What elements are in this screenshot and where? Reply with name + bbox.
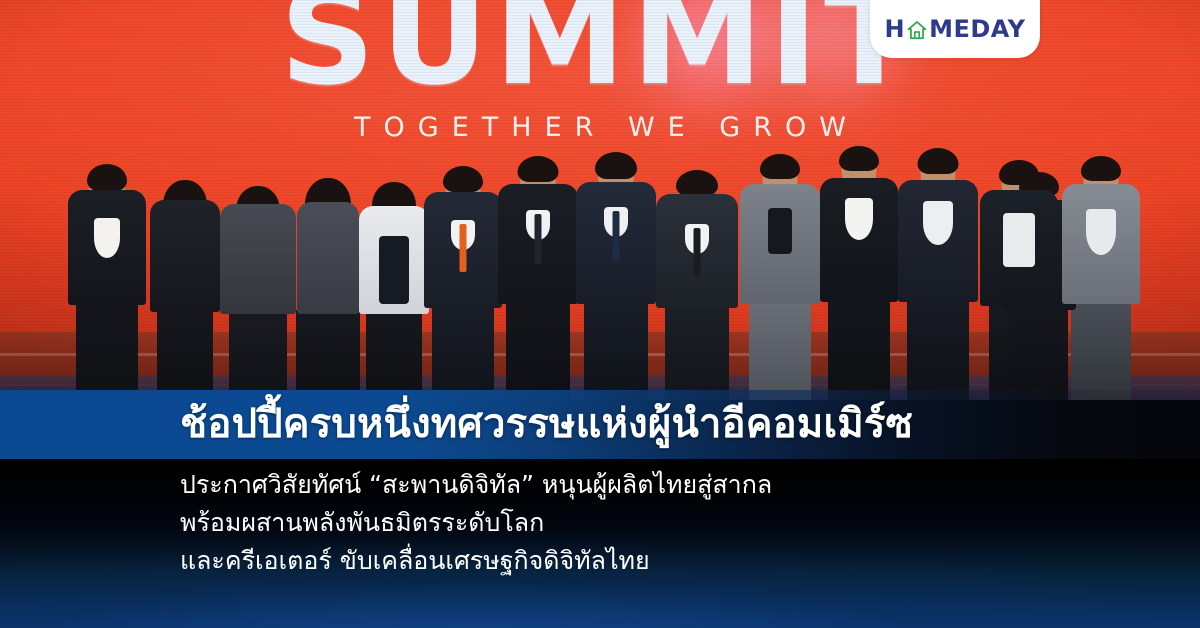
trousers (229, 310, 287, 400)
jacket (220, 204, 296, 314)
suit-jacket (820, 178, 898, 302)
trousers (828, 298, 890, 400)
trousers (907, 298, 969, 400)
caption-line: และครีเอเตอร์ ขับเคลื่อนเศรษฐกิจดิจิทัลไ… (180, 542, 772, 580)
necktie (460, 224, 467, 272)
hair (676, 170, 718, 196)
necktie (535, 214, 542, 264)
trousers (584, 300, 648, 400)
trousers (296, 310, 360, 400)
shirt (1086, 209, 1116, 255)
promo-card: SUMMIT TOGETHER WE GROW (0, 0, 1200, 628)
hair (839, 146, 879, 171)
person (740, 154, 820, 400)
logo-text-after: MEDAY (929, 17, 1025, 41)
trousers (665, 304, 729, 400)
person (292, 174, 364, 400)
trousers (157, 308, 213, 400)
shirt (1003, 213, 1035, 267)
vest (297, 202, 359, 314)
person (150, 174, 220, 400)
person (1062, 156, 1140, 400)
caption-text: ประกาศวิสัยทัศน์ “สะพานดิจิทัล” หนุนผู้ผ… (180, 466, 772, 580)
hair (1081, 156, 1121, 181)
homeday-wordmark: H MEDAY (885, 17, 1026, 41)
person (220, 178, 296, 400)
hair (87, 164, 127, 191)
jacket (150, 200, 220, 312)
logo-text-before: H (885, 17, 906, 41)
hair (595, 152, 637, 179)
hair (918, 148, 959, 174)
trousers (749, 300, 811, 400)
house-icon (906, 19, 928, 41)
trousers (366, 310, 422, 400)
shirt (768, 208, 792, 254)
person (68, 162, 146, 400)
necktie (694, 228, 701, 276)
caption-line: พร้อมผสานพลังพันธมิตรระดับโลก (180, 504, 772, 542)
trousers (76, 300, 138, 400)
shirt (94, 218, 120, 258)
headline-text: ช้อปปี้ครบหนึ่งทศวรรษแห่งผู้นำอีคอมเมิร์… (180, 392, 913, 456)
caption-line: ประกาศวิสัยทัศน์ “สะพานดิจิทัล” หนุนผู้ผ… (180, 466, 772, 504)
homeday-logo-badge[interactable]: H MEDAY (870, 0, 1040, 58)
hair (443, 166, 483, 192)
person (898, 148, 978, 400)
trousers (1010, 306, 1068, 400)
person (656, 164, 738, 400)
stage-photo: SUMMIT TOGETHER WE GROW (0, 0, 1200, 400)
person (424, 162, 502, 400)
hair (760, 154, 800, 179)
shirt (923, 201, 953, 245)
person (820, 146, 898, 400)
person (576, 152, 656, 400)
trousers (432, 304, 494, 400)
person (498, 156, 578, 400)
shirt (845, 198, 873, 240)
trousers (506, 300, 570, 400)
hair (518, 156, 559, 182)
person (358, 176, 430, 400)
trousers (1071, 300, 1131, 400)
necktie (613, 211, 620, 261)
shirt (379, 236, 409, 304)
